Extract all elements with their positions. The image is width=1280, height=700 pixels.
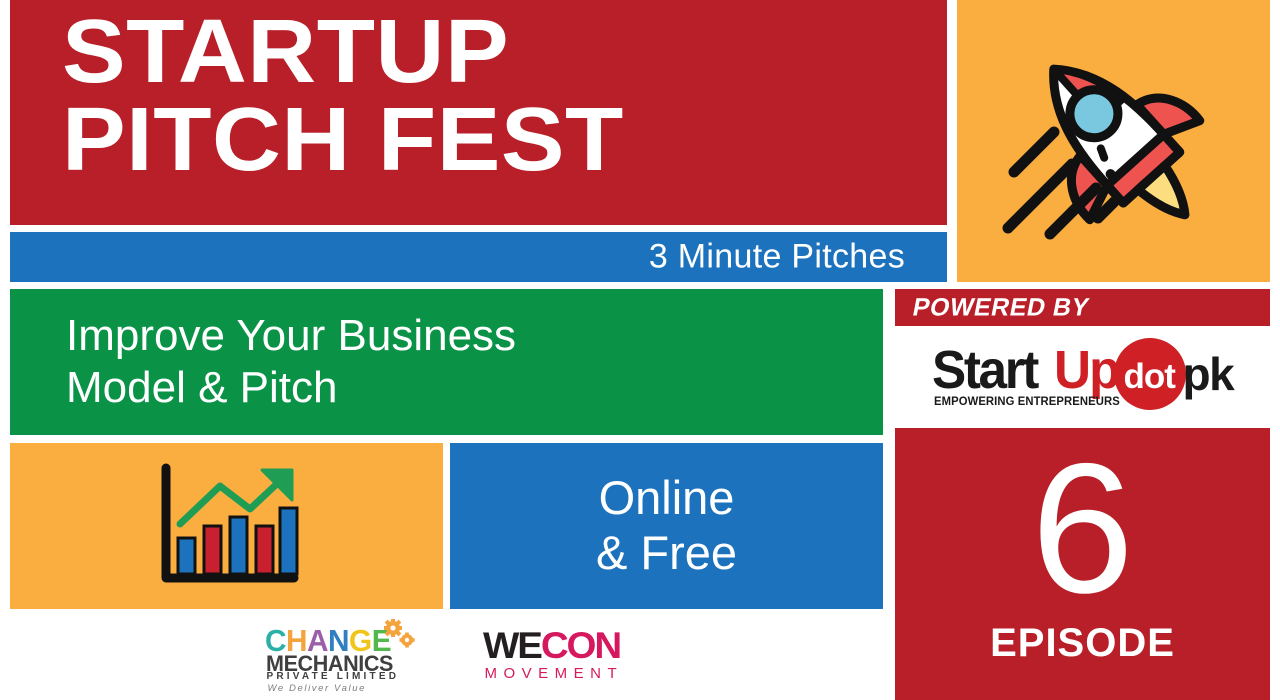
subtitle-text: 3 Minute Pitches [649,238,905,277]
growth-chart-block [10,443,443,609]
sponsor-word-start: Start [932,343,1037,397]
rocket-icon [998,32,1230,250]
startup-dot-pk-logo: Start Up dot pk EMPOWERING ENTREPRENEURS [918,335,1248,413]
page-title: STARTUP PITCH FEST [62,8,624,184]
change-mechanics-line3: PRIVATE LIMITED [267,672,400,682]
wecon-wordmark: WECON [483,627,620,664]
powered-by-label: POWERED BY [910,293,1091,322]
sponsor-logo-block: Start Up dot pk EMPOWERING ENTREPRENEURS [895,326,1270,421]
sponsor-word-dot: dot [1124,359,1175,394]
wecon-movement-logo: WECON MOVEMENT [483,625,629,687]
growth-chart-icon [152,462,302,590]
rocket-block [957,0,1270,282]
poster-canvas: STARTUP PITCH FEST 3 Minute Pitches Impr… [0,0,1280,700]
gears-icon [382,619,416,649]
wecon-movement-label: MOVEMENT [485,666,624,681]
tagline-text: Improve Your Business Model & Pitch [66,310,516,414]
sponsor-word-up: Up [1054,343,1119,397]
tagline-block: Improve Your Business Model & Pitch [10,289,883,435]
sponsor-tagline: EMPOWERING ENTREPRENEURS [934,396,1120,408]
change-mechanics-slogan: We Deliver Value [268,684,366,694]
online-free-text: Online & Free [596,471,737,580]
episode-number: 6 [1031,454,1134,606]
episode-label: EPISODE [990,621,1175,666]
subtitle-block: 3 Minute Pitches [10,232,947,282]
wecon-we: WE [483,625,541,666]
powered-by-band: POWERED BY [895,289,1270,326]
sponsor-word-pk: pk [1183,351,1234,397]
footer-logos: CHANGE MECHANICS PRIVATE LIMITED We Deli… [10,612,883,700]
online-free-block: Online & Free [450,443,883,609]
episode-block: 6 EPISODE [895,428,1270,700]
title-block: STARTUP PITCH FEST [10,0,947,225]
change-mechanics-logo: CHANGE MECHANICS PRIVATE LIMITED We Deli… [265,619,417,693]
wecon-con: CON [540,625,619,666]
